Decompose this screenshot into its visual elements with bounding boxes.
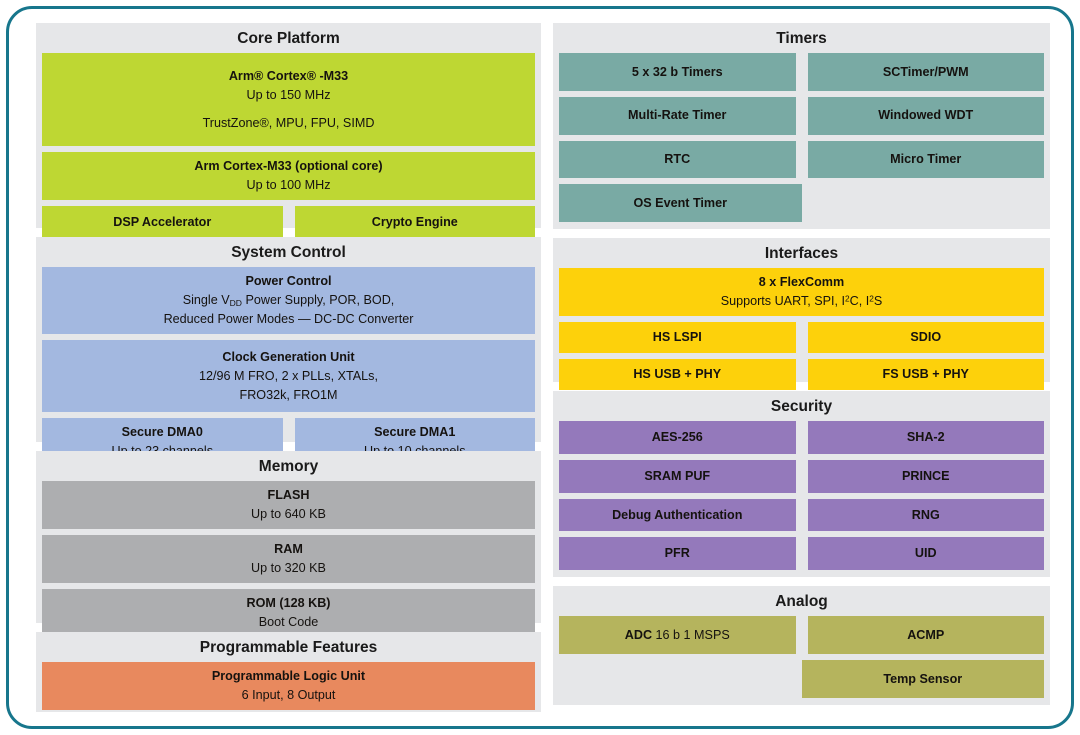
- panel-security: Security AES-256 SHA-2 SRAM PUF: [553, 391, 1050, 577]
- cell-uid: UID: [808, 537, 1045, 570]
- cell-aes-256: AES-256: [559, 421, 796, 454]
- panel-title-memory: Memory: [42, 456, 535, 481]
- cell-title-secure-dma0: Secure DMA0: [122, 423, 203, 442]
- cell-sha-2: SHA-2: [808, 421, 1045, 454]
- cell-title-micro-timer: Micro Timer: [890, 150, 961, 169]
- cell-sram-puf: SRAM PUF: [559, 460, 796, 493]
- cell-title-temp-sensor: Temp Sensor: [883, 670, 962, 689]
- cell-ram: RAM Up to 320 KB: [42, 535, 535, 583]
- cell-title-rtc: RTC: [664, 150, 690, 169]
- cell-detail-cgu-line2: FRO32k, FRO1M: [240, 386, 338, 405]
- cell-title-flexcomm: 8 x FlexComm: [759, 273, 844, 292]
- cell-title-dsp-accelerator: DSP Accelerator: [113, 213, 211, 232]
- cell-title-power-control: Power Control: [245, 272, 331, 291]
- cell-rng: RNG: [808, 499, 1045, 532]
- cell-crypto-engine: Crypto Engine: [295, 206, 536, 238]
- cell-dsp-accelerator: DSP Accelerator: [42, 206, 283, 238]
- cell-title-os-event-timer: OS Event Timer: [633, 194, 727, 213]
- panel-title-security: Security: [559, 396, 1044, 421]
- cell-title-sctimer-pwm: SCTimer/PWM: [883, 63, 969, 82]
- cell-title-flash: FLASH: [268, 486, 310, 505]
- cell-multi-rate-timer: Multi-Rate Timer: [559, 97, 796, 135]
- cell-micro-timer: Micro Timer: [808, 141, 1045, 179]
- cell-prince: PRINCE: [808, 460, 1045, 493]
- panel-system-control: System Control Power Control Single VDD …: [36, 237, 541, 442]
- panel-analog: Analog ADC 16 b 1 MSPS ACMP Temp Senso: [553, 586, 1050, 705]
- cell-windowed-wdt: Windowed WDT: [808, 97, 1045, 135]
- cell-rtc: RTC: [559, 141, 796, 179]
- cell-hs-lspi: HS LSPI: [559, 322, 796, 353]
- cell-title-adc: ADC 16 b 1 MSPS: [625, 626, 730, 645]
- cell-detail-arm-cortex-m33-features: TrustZone®, MPU, FPU, SIMD: [203, 114, 375, 133]
- cell-title-rom: ROM (128 KB): [247, 594, 331, 613]
- cell-title-multi-rate-timer: Multi-Rate Timer: [628, 106, 726, 125]
- right-column: Timers 5 x 32 b Timers SCTimer/PWM Multi…: [553, 23, 1050, 717]
- cell-title-crypto-engine: Crypto Engine: [372, 213, 458, 232]
- cell-title-sdio: SDIO: [910, 328, 941, 347]
- cell-title-prince: PRINCE: [902, 467, 950, 486]
- cell-sctimer-pwm: SCTimer/PWM: [808, 53, 1045, 91]
- left-column: Core Platform Arm® Cortex® -M33 Up to 15…: [36, 23, 541, 717]
- cell-title-aes-256: AES-256: [652, 428, 703, 447]
- block-diagram-grid: Core Platform Arm® Cortex® -M33 Up to 15…: [36, 23, 1050, 717]
- cell-title-debug-authentication: Debug Authentication: [612, 506, 742, 525]
- cell-os-event-timer: OS Event Timer: [559, 184, 802, 222]
- cell-title-uid: UID: [915, 544, 937, 563]
- cell-detail-ram: Up to 320 KB: [251, 559, 326, 578]
- cell-title-rng: RNG: [912, 506, 940, 525]
- cell-detail-rom: Boot Code: [259, 613, 319, 632]
- cell-title-acmp: ACMP: [907, 626, 944, 645]
- cell-clock-generation-unit: Clock Generation Unit 12/96 M FRO, 2 x P…: [42, 340, 535, 412]
- cell-title-programmable-logic-unit: Programmable Logic Unit: [212, 667, 365, 686]
- cell-arm-cortex-m33: Arm® Cortex® -M33 Up to 150 MHz TrustZon…: [42, 53, 535, 146]
- cell-title-fs-usb-phy: FS USB + PHY: [883, 365, 969, 384]
- cell-detail-flexcomm: Supports UART, SPI, I2C, I2S: [721, 292, 883, 311]
- cell-detail-programmable-logic-unit: 6 Input, 8 Output: [242, 686, 336, 705]
- cell-detail-arm-cortex-m33-optional-speed: Up to 100 MHz: [247, 176, 331, 195]
- cell-sdio: SDIO: [808, 322, 1045, 353]
- cell-detail-cgu-line1: 12/96 M FRO, 2 x PLLs, XTALs,: [199, 367, 378, 386]
- cell-title-clock-generation-unit: Clock Generation Unit: [222, 348, 354, 367]
- cell-title-32b-timers: 5 x 32 b Timers: [632, 63, 723, 82]
- cell-fs-usb-phy: FS USB + PHY: [808, 359, 1045, 390]
- cell-title-ram: RAM: [274, 540, 303, 559]
- cell-detail-arm-cortex-m33-speed: Up to 150 MHz: [247, 86, 331, 105]
- cell-title-arm-cortex-m33-optional: Arm Cortex-M33 (optional core): [194, 157, 382, 176]
- cell-title-sram-puf: SRAM PUF: [644, 467, 710, 486]
- panel-title-interfaces: Interfaces: [559, 243, 1044, 268]
- cell-title-windowed-wdt: Windowed WDT: [878, 106, 973, 125]
- cell-title-pfr: PFR: [665, 544, 690, 563]
- panel-core-platform: Core Platform Arm® Cortex® -M33 Up to 15…: [36, 23, 541, 228]
- cell-title-arm-cortex-m33: Arm® Cortex® -M33: [229, 67, 348, 86]
- panel-interfaces: Interfaces 8 x FlexComm Supports UART, S…: [553, 238, 1050, 382]
- panel-programmable-features: Programmable Features Programmable Logic…: [36, 632, 541, 712]
- panel-title-core-platform: Core Platform: [42, 28, 535, 53]
- panel-title-programmable-features: Programmable Features: [42, 637, 535, 662]
- diagram-frame: Core Platform Arm® Cortex® -M33 Up to 15…: [6, 6, 1074, 729]
- panel-title-timers: Timers: [559, 28, 1044, 53]
- cell-power-control: Power Control Single VDD Power Supply, P…: [42, 267, 535, 334]
- panel-memory: Memory FLASH Up to 640 KB RAM Up to 320 …: [36, 451, 541, 623]
- cell-rom: ROM (128 KB) Boot Code: [42, 589, 535, 637]
- cell-detail-flash: Up to 640 KB: [251, 505, 326, 524]
- cell-debug-authentication: Debug Authentication: [559, 499, 796, 532]
- cell-acmp: ACMP: [808, 616, 1045, 654]
- cell-title-hs-usb-phy: HS USB + PHY: [633, 365, 721, 384]
- cell-arm-cortex-m33-optional: Arm Cortex-M33 (optional core) Up to 100…: [42, 152, 535, 200]
- cell-detail-power-control-line1: Single VDD Power Supply, POR, BOD,: [183, 291, 395, 310]
- cell-title-secure-dma1: Secure DMA1: [374, 423, 455, 442]
- cell-flash: FLASH Up to 640 KB: [42, 481, 535, 529]
- panel-title-analog: Analog: [559, 591, 1044, 616]
- cell-programmable-logic-unit: Programmable Logic Unit 6 Input, 8 Outpu…: [42, 662, 535, 710]
- panel-title-system-control: System Control: [42, 242, 535, 267]
- cell-adc: ADC 16 b 1 MSPS: [559, 616, 796, 654]
- cell-title-hs-lspi: HS LSPI: [653, 328, 702, 347]
- cell-hs-usb-phy: HS USB + PHY: [559, 359, 796, 390]
- cell-pfr: PFR: [559, 537, 796, 570]
- cell-detail-power-control-line2: Reduced Power Modes — DC-DC Converter: [164, 310, 414, 329]
- cell-32b-timers: 5 x 32 b Timers: [559, 53, 796, 91]
- analog-empty-slot: [559, 660, 790, 698]
- timers-empty-slot: [814, 184, 1045, 222]
- cell-temp-sensor: Temp Sensor: [802, 660, 1045, 698]
- cell-title-sha-2: SHA-2: [907, 428, 945, 447]
- cell-flexcomm: 8 x FlexComm Supports UART, SPI, I2C, I2…: [559, 268, 1044, 316]
- panel-timers: Timers 5 x 32 b Timers SCTimer/PWM Multi…: [553, 23, 1050, 229]
